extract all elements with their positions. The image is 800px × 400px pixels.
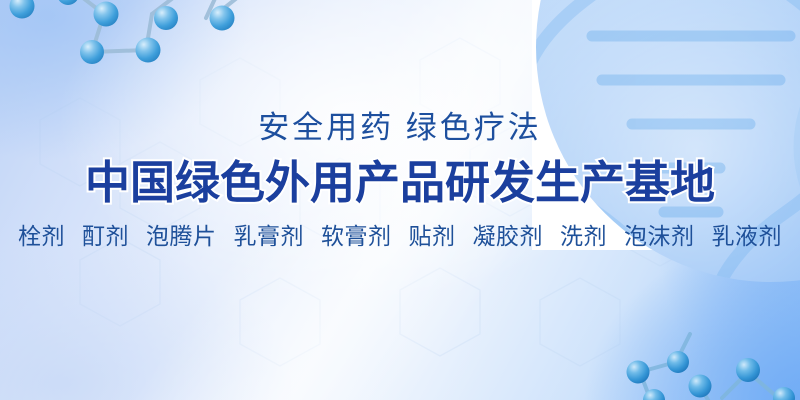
product-type-item: 软膏剂	[321, 225, 392, 248]
product-type-item: 泡腾片	[146, 225, 217, 248]
product-type-item: 泡沫剂	[624, 225, 695, 248]
banner-headline: 中国绿色外用产品研发生产基地	[85, 159, 715, 207]
promotional-banner: 安全用药 绿色疗法 中国绿色外用产品研发生产基地 栓剂酊剂泡腾片乳膏剂软膏剂贴剂…	[0, 0, 800, 400]
product-type-item: 乳膏剂	[234, 225, 305, 248]
product-type-item: 酊剂	[82, 225, 129, 248]
product-type-item: 洗剂	[560, 225, 607, 248]
product-type-item: 贴剂	[409, 225, 456, 248]
banner-subtitle: 安全用药 绿色疗法	[258, 112, 542, 143]
product-type-item: 凝胶剂	[473, 225, 544, 248]
product-type-item: 乳液剂	[712, 225, 783, 248]
banner-content: 安全用药 绿色疗法 中国绿色外用产品研发生产基地 栓剂酊剂泡腾片乳膏剂软膏剂贴剂…	[0, 0, 800, 400]
product-type-list: 栓剂酊剂泡腾片乳膏剂软膏剂贴剂凝胶剂洗剂泡沫剂乳液剂	[18, 225, 782, 248]
product-type-item: 栓剂	[18, 225, 65, 248]
